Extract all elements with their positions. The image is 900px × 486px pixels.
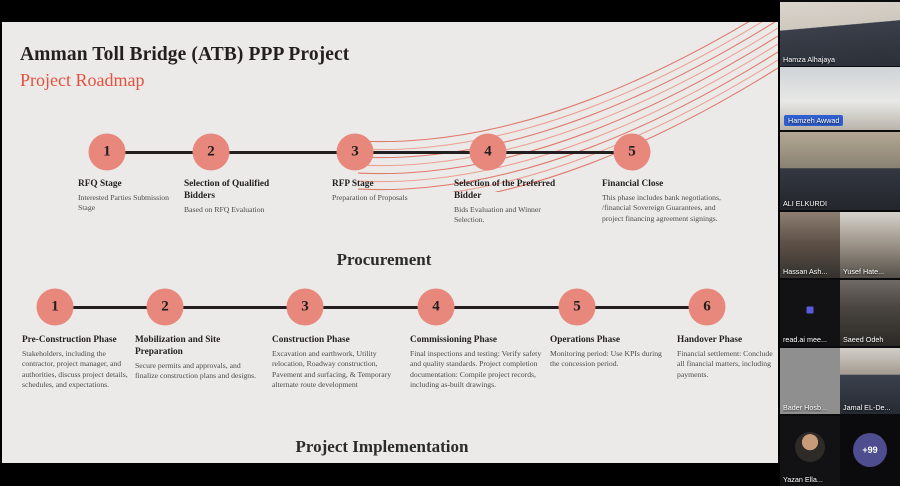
step-description: Stakeholders, including the contractor, … — [22, 349, 132, 390]
procurement-node-1: 1 — [89, 134, 126, 171]
implementation-node-3: 3 — [287, 289, 324, 326]
step-title: Selection of the Preferred Bidder — [454, 179, 564, 203]
section-label-implementation: Project Implementation — [296, 437, 469, 457]
participant-name: Jamal EL-De... — [843, 403, 891, 412]
step-description: Secure permits and approvals, and finali… — [135, 361, 263, 382]
implementation-node-2: 2 — [147, 289, 184, 326]
step-description: Interested Parties Submission Stage — [78, 193, 174, 214]
procurement-step-5: Financial CloseThis phase includes bank … — [602, 179, 736, 224]
participant-name: Hamza Alhajaya — [783, 55, 835, 64]
step-title: RFQ Stage — [78, 179, 174, 191]
implementation-node-5: 5 — [559, 289, 596, 326]
participant-tile[interactable]: Hassan Ash... — [780, 212, 840, 278]
participant-tile[interactable]: Yazan Ella... — [780, 416, 840, 486]
implementation-step-6: Handover PhaseFinancial settlement: Conc… — [677, 335, 773, 380]
overflow-count-badge: +99 — [853, 433, 887, 467]
procurement-step-3: RFP StagePreparation of Proposals — [332, 179, 424, 203]
implementation-node-6: 6 — [689, 289, 726, 326]
step-title: RFP Stage — [332, 179, 424, 191]
participant-tile[interactable]: Yusef Hate... — [840, 212, 900, 278]
timeline-connector — [591, 306, 693, 309]
step-title: Financial Close — [602, 179, 736, 191]
procurement-step-2: Selection of Qualified BiddersBased on R… — [184, 179, 302, 215]
participant-name: Yusef Hate... — [843, 267, 884, 276]
decorative-ribbon-curves — [358, 22, 778, 192]
step-description: Financial settlement: Conclude all finan… — [677, 349, 773, 380]
implementation-step-4: Commissioning PhaseFinal inspections and… — [410, 335, 542, 390]
procurement-step-4: Selection of the Preferred BidderBids Ev… — [454, 179, 564, 225]
step-description: Based on RFQ Evaluation — [184, 205, 302, 215]
timeline-connector — [450, 306, 563, 309]
timeline-connector — [179, 306, 291, 309]
participant-name: read.ai mee... — [783, 335, 827, 344]
participant-tile[interactable]: ALI ELKURDI — [780, 132, 900, 210]
implementation-step-3: Construction PhaseExcavation and earthwo… — [272, 335, 402, 390]
participant-name: Yazan Ella... — [783, 475, 823, 484]
participant-tile[interactable]: Saeed Odeh — [840, 280, 900, 346]
participant-tile[interactable]: ⌂Bader Hosb... — [780, 348, 840, 414]
participant-tile[interactable]: Hamzeh Awwad — [780, 67, 900, 130]
step-title: Selection of Qualified Bidders — [184, 179, 302, 203]
step-description: Preparation of Proposals — [332, 193, 424, 203]
participant-name: Hamzeh Awwad — [784, 115, 843, 126]
step-description: Monitoring period: Use KPIs during the c… — [550, 349, 672, 370]
overflow-participants-tile[interactable]: +99 — [840, 416, 900, 486]
presentation-slide: Amman Toll Bridge (ATB) PPP Project Proj… — [2, 22, 778, 463]
participant-tile[interactable]: Jamal EL-De... — [840, 348, 900, 414]
step-title: Pre-Construction Phase — [22, 335, 132, 347]
procurement-node-2: 2 — [193, 134, 230, 171]
procurement-node-4: 4 — [470, 134, 507, 171]
step-description: Final inspections and testing: Verify sa… — [410, 349, 542, 390]
avatar — [795, 432, 825, 462]
section-label-procurement: Procurement — [337, 250, 432, 270]
step-title: Mobilization and Site Preparation — [135, 335, 263, 359]
step-description: Excavation and earthwork, Utility reloca… — [272, 349, 402, 390]
page-title: Amman Toll Bridge (ATB) PPP Project — [20, 44, 349, 66]
timeline-connector — [225, 151, 341, 154]
implementation-step-2: Mobilization and Site PreparationSecure … — [135, 335, 263, 381]
implementation-step-5: Operations PhaseMonitoring period: Use K… — [550, 335, 672, 370]
participant-name: Saeed Odeh — [843, 335, 883, 344]
bot-indicator-icon — [807, 306, 814, 313]
participant-name: Bader Hosb... — [783, 403, 827, 412]
implementation-step-1: Pre-Construction PhaseStakeholders, incl… — [22, 335, 132, 390]
participant-name: Hassan Ash... — [783, 267, 827, 276]
implementation-node-4: 4 — [418, 289, 455, 326]
step-title: Operations Phase — [550, 335, 672, 347]
page-subtitle: Project Roadmap — [20, 70, 144, 91]
lock-icon: ⌂ — [806, 370, 814, 385]
screen-share-region[interactable]: Amman Toll Bridge (ATB) PPP Project Proj… — [0, 0, 780, 486]
step-title: Handover Phase — [677, 335, 773, 347]
participant-rail[interactable]: Hamza AlhajayaHamzeh AwwadALI ELKURDIHas… — [780, 0, 900, 486]
timeline-connector — [319, 306, 422, 309]
meeting-screen: Amman Toll Bridge (ATB) PPP Project Proj… — [0, 0, 900, 486]
step-description: Bids Evaluation and Winner Selection. — [454, 205, 564, 226]
step-title: Commissioning Phase — [410, 335, 542, 347]
timeline-connector — [369, 151, 474, 154]
participant-tile[interactable]: Hamza Alhajaya — [780, 2, 900, 66]
procurement-step-1: RFQ StageInterested Parties Submission S… — [78, 179, 174, 214]
step-title: Construction Phase — [272, 335, 402, 347]
participant-name: ALI ELKURDI — [783, 199, 827, 208]
timeline-connector — [69, 306, 151, 309]
implementation-node-1: 1 — [37, 289, 74, 326]
timeline-connector — [502, 151, 618, 154]
timeline-connector — [121, 151, 197, 154]
participant-tile[interactable]: read.ai mee... — [780, 280, 840, 346]
step-description: This phase includes bank negotiations, /… — [602, 193, 736, 224]
procurement-node-3: 3 — [337, 134, 374, 171]
procurement-node-5: 5 — [614, 134, 651, 171]
